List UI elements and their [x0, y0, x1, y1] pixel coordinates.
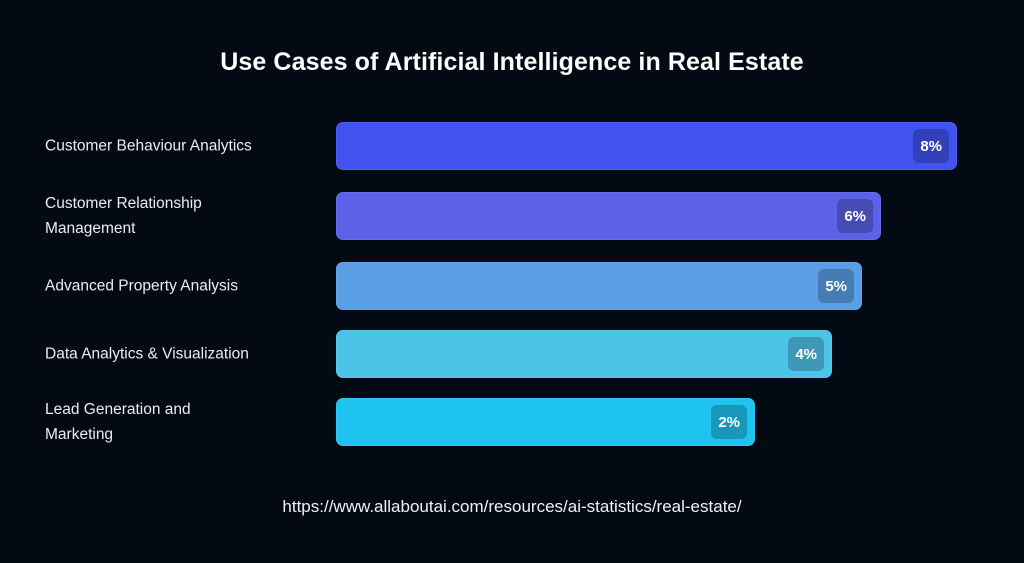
bar-category-label: Lead Generation and Marketing — [45, 397, 325, 447]
bar-value-badge: 6% — [837, 199, 873, 233]
bar-track: 2% — [336, 398, 755, 446]
bar-row: Advanced Property Analysis 5% — [0, 262, 1024, 310]
bar-value-badge: 5% — [818, 269, 854, 303]
source-url: https://www.allaboutai.com/resources/ai-… — [0, 494, 1024, 520]
bar-row: Data Analytics & Visualization 4% — [0, 330, 1024, 378]
page-title: Use Cases of Artificial Intelligence in … — [0, 45, 1024, 79]
bar-category-label: Customer Relationship Management — [45, 191, 325, 241]
bar-fill: 8% — [336, 122, 957, 170]
bar-fill: 2% — [336, 398, 755, 446]
bar-category-label: Data Analytics & Visualization — [45, 342, 325, 367]
bar-chart: Customer Behaviour Analytics 8% Customer… — [0, 110, 1024, 470]
bar-fill: 5% — [336, 262, 862, 310]
bar-category-label: Customer Behaviour Analytics — [45, 134, 325, 159]
bar-value-badge: 8% — [913, 129, 949, 163]
bar-value-badge: 4% — [788, 337, 824, 371]
bar-value-badge: 2% — [711, 405, 747, 439]
bar-track: 6% — [336, 192, 881, 240]
bar-track: 5% — [336, 262, 862, 310]
bar-track: 8% — [336, 122, 957, 170]
bar-row: Lead Generation and Marketing 2% — [0, 398, 1024, 446]
infographic-root: Use Cases of Artificial Intelligence in … — [0, 0, 1024, 563]
bar-fill: 4% — [336, 330, 832, 378]
bar-category-label: Advanced Property Analysis — [45, 274, 325, 299]
bar-fill: 6% — [336, 192, 881, 240]
bar-row: Customer Relationship Management 6% — [0, 192, 1024, 240]
bar-track: 4% — [336, 330, 832, 378]
bar-row: Customer Behaviour Analytics 8% — [0, 122, 1024, 170]
